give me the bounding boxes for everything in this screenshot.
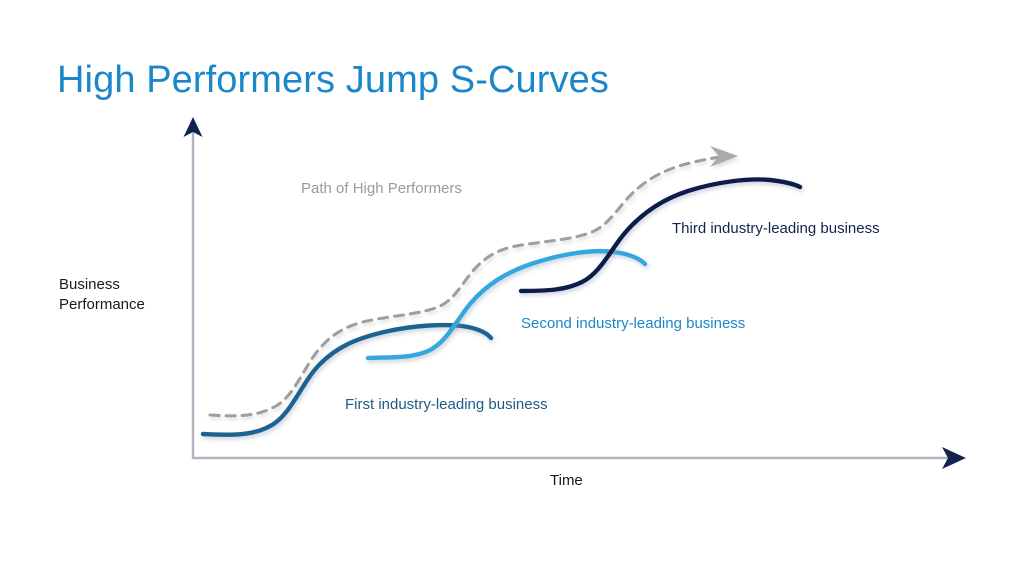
first-business-label: First industry-leading business [345, 395, 548, 415]
third-business-label: Third industry-leading business [672, 219, 880, 239]
path-of-high-performers-curve [210, 146, 738, 416]
curve-second-business [368, 251, 645, 358]
y-axis-label: Business Performance [59, 275, 145, 315]
second-business-label: Second industry-leading business [521, 314, 745, 334]
curve-first-business [203, 325, 491, 435]
x-axis-label: Time [550, 471, 583, 491]
y-axis [184, 117, 203, 459]
x-axis [192, 447, 966, 469]
slide-canvas: High Performers Jump S-Curves [0, 0, 1024, 576]
s-curve-chart [0, 0, 1024, 576]
path-of-high-performers-label: Path of High Performers [301, 179, 462, 199]
